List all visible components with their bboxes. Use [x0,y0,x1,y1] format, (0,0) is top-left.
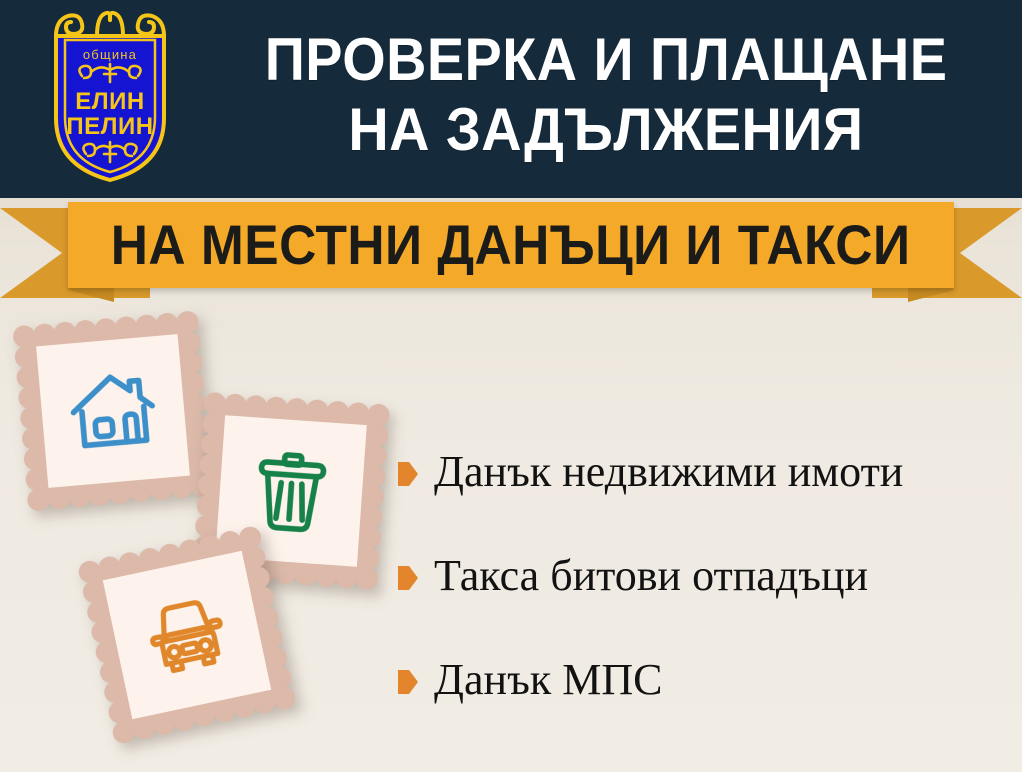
stamp-paper [36,334,190,488]
list-item[interactable]: Данък МПС [398,628,1018,732]
list-item-label: Данък МПС [434,656,662,704]
list-item[interactable]: Такса битови отпадъци [398,524,1018,628]
car-icon [131,579,242,690]
property-stamp [10,308,216,514]
ribbon-body: НА МЕСТНИ ДАНЪЦИ И ТАКСИ [68,202,954,288]
svg-text:ПЕЛИН: ПЕЛИН [66,113,153,140]
svg-text:община: община [83,47,137,62]
vehicle-stamp [74,522,299,747]
list-item-label: Данък недвижими имоти [434,448,903,496]
poster-canvas: община ЕЛИН ПЕЛИН [0,0,1022,772]
page-title: ПРОВЕРКА И ПЛАЩАНЕ НА ЗАДЪЛЖЕНИЯ [190,0,1022,198]
stamp-card-group [0,300,420,770]
arrow-pentagon-bullet-icon [398,566,418,590]
arrow-pentagon-bullet-icon [398,462,418,486]
header-bar: община ЕЛИН ПЕЛИН [0,0,1022,198]
title-line-1: ПРОВЕРКА И ПЛАЩАНЕ [265,25,948,95]
tax-type-list: Данък недвижими имоти Такса битови отпад… [398,420,1018,732]
stamp-paper [103,551,271,719]
title-line-2: НА ЗАДЪЛЖЕНИЯ [348,95,863,165]
svg-text:ЕЛИН: ЕЛИН [75,88,144,115]
subtitle-ribbon: НА МЕСТНИ ДАНЪЦИ И ТАКСИ [0,198,1022,308]
ribbon-text: НА МЕСТНИ ДАНЪЦИ И ТАКСИ [111,217,911,273]
arrow-pentagon-bullet-icon [398,670,418,694]
list-item[interactable]: Данък недвижими имоти [398,420,1018,524]
coat-of-arms-shield-icon: община ЕЛИН ПЕЛИН [34,6,186,184]
list-item-label: Такса битови отпадъци [434,552,868,600]
house-icon [62,360,164,462]
